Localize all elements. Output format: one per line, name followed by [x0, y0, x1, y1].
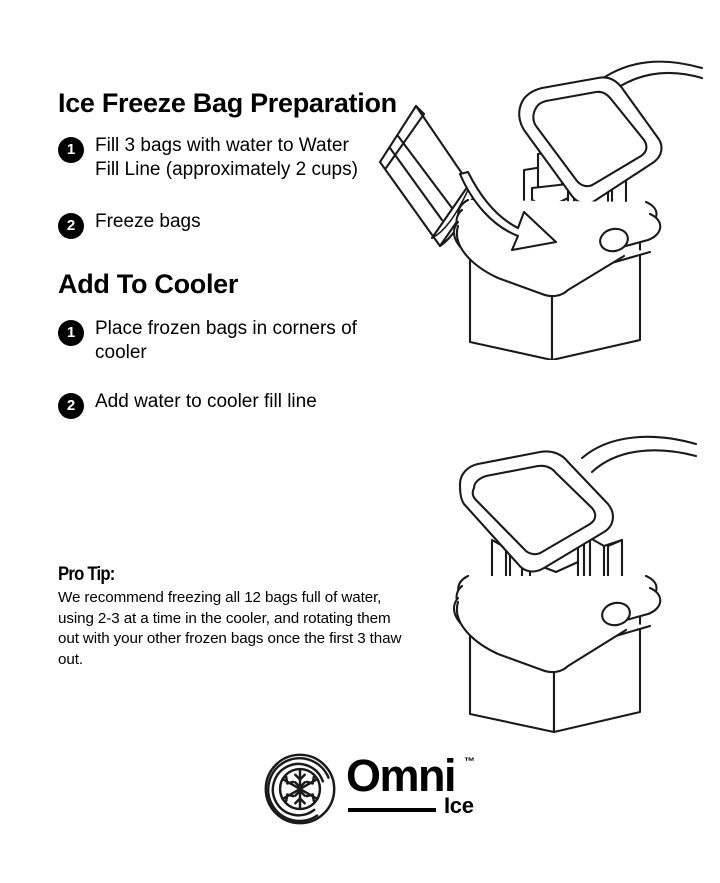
logo-wordmark: Omni ™ Ice [346, 751, 492, 827]
list-item: 2 Add water to cooler fill line [58, 390, 398, 419]
trademark-icon: ™ [464, 757, 475, 768]
step-text: Freeze bags [95, 210, 201, 234]
step-number-badge: 1 [58, 320, 84, 346]
instructions-column: Ice Freeze Bag Preparation 1 Fill 3 bags… [58, 88, 398, 419]
pro-tip-block: Pro Tip: We recommend freezing all 12 ba… [58, 564, 408, 671]
steps-list-add-to-cooler: 1 Place frozen bags in corners of cooler… [58, 317, 398, 420]
illustration-cooler-assembled [414, 428, 714, 734]
section-title-add-to-cooler: Add To Cooler [58, 269, 398, 301]
step-number-badge: 1 [58, 137, 84, 163]
illustration-fill-bag-into-cooler [372, 50, 720, 360]
step-text: Add water to cooler fill line [95, 390, 317, 414]
hose-line [582, 437, 696, 472]
step-number-badge: 2 [58, 213, 84, 239]
logo-subbrand-text: Ice [444, 795, 474, 817]
step-text: Fill 3 bags with water to Water Fill Lin… [95, 134, 365, 183]
list-item: 1 Place frozen bags in corners of cooler [58, 317, 398, 366]
steps-list-preparation: 1 Fill 3 bags with water to Water Fill L… [58, 134, 398, 240]
logo-brand-text: Omni [346, 753, 455, 798]
logo-divider-rule [348, 808, 436, 812]
instruction-sheet-page: Ice Freeze Bag Preparation 1 Fill 3 bags… [0, 0, 720, 883]
list-item: 2 Freeze bags [58, 210, 398, 239]
pro-tip-body: We recommend freezing all 12 bags full o… [58, 588, 408, 671]
list-item: 1 Fill 3 bags with water to Water Fill L… [58, 134, 398, 183]
pro-tip-title: Pro Tip: [58, 564, 366, 586]
snowflake-in-circle-icon [262, 751, 338, 827]
page-title-ice-freeze-bag-preparation: Ice Freeze Bag Preparation [58, 88, 398, 120]
step-text: Place frozen bags in corners of cooler [95, 317, 365, 366]
brand-logo: Omni ™ Ice [262, 748, 492, 830]
step-number-badge: 2 [58, 393, 84, 419]
